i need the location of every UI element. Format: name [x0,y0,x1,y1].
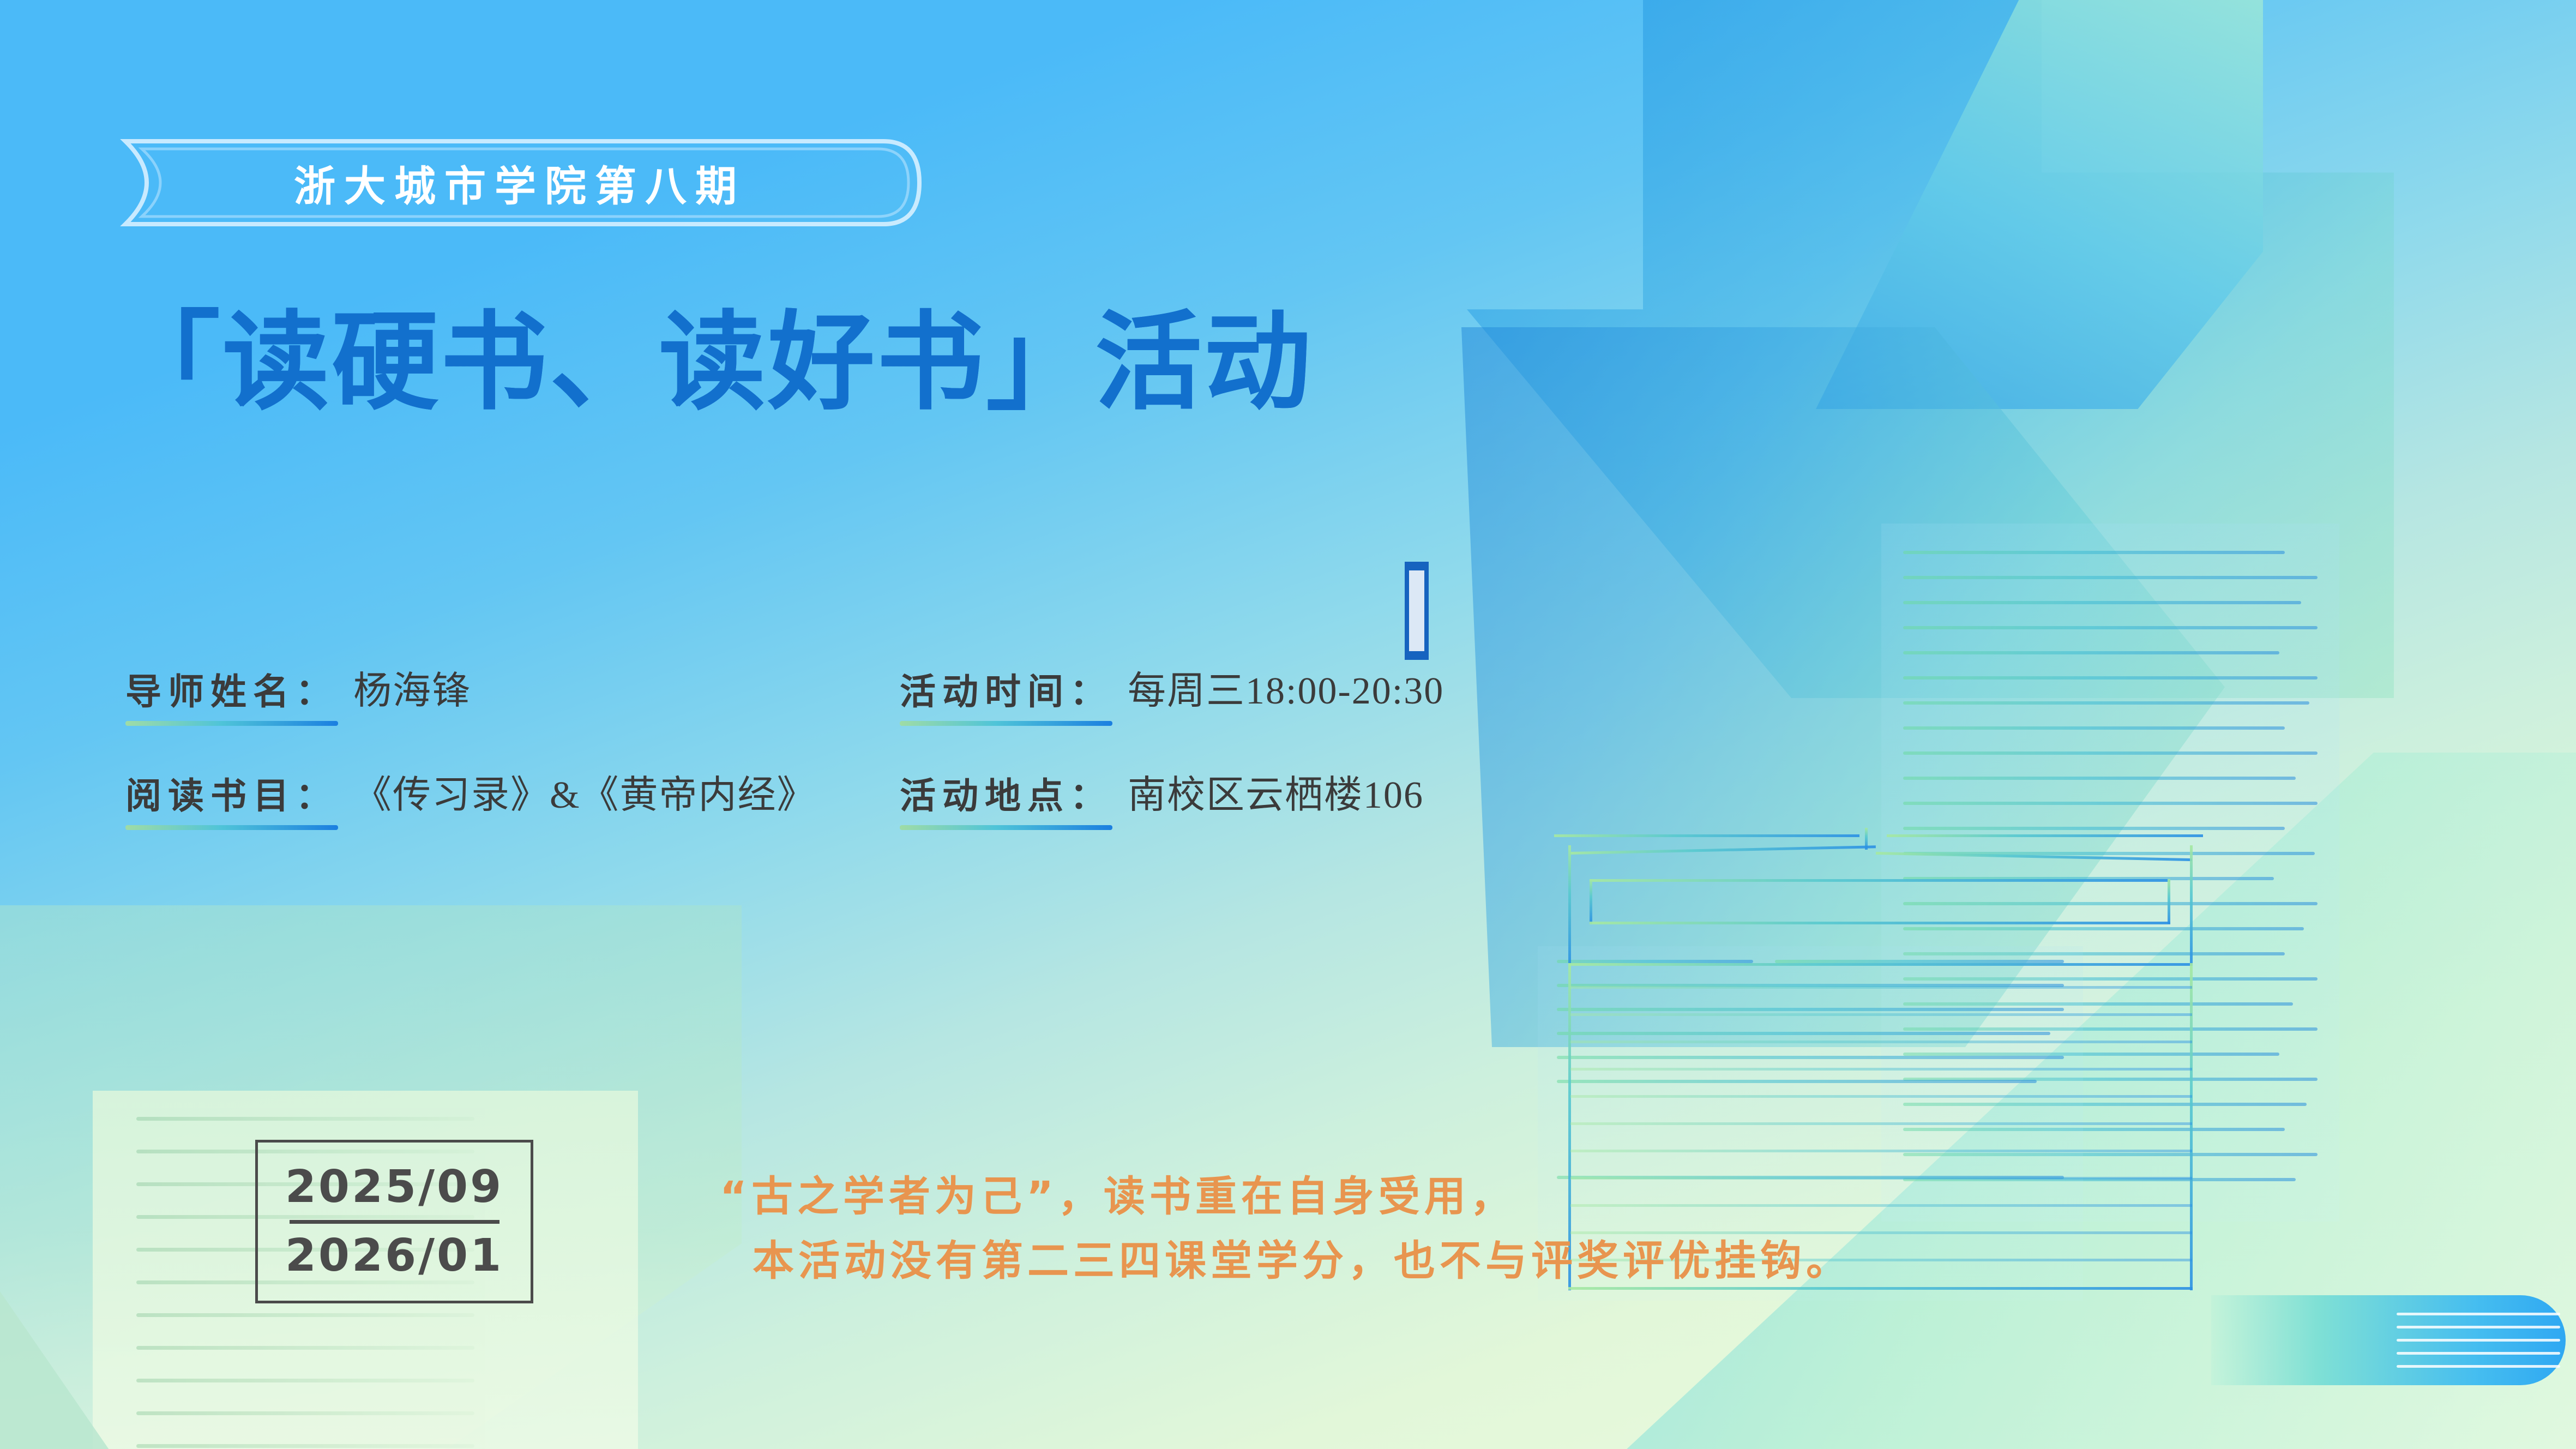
field-value: 《传习录》&《黄帝内经》 [353,764,816,830]
title-part-2: 读好 [659,300,877,425]
field-instructor-name: 导师姓名： 杨海锋 [125,660,900,726]
title-separator: 、 [550,300,659,425]
field-label-wrap: 导师姓名： [125,663,338,726]
date-start: 2025/09 [285,1161,503,1214]
field-reading-list: 阅读书目： 《传习录》&《黄帝内经》 [125,764,900,830]
field-value: 每周三18:00-20:30 [1128,660,1444,726]
series-banner-label: 浙大城市学院第八期 [109,139,922,226]
field-underline [125,825,338,830]
field-label: 活动时间： [900,663,1112,715]
disclaimer-line-1: “古之学者为己”，读书重在自身受用， [720,1172,1516,1220]
field-label-wrap: 活动时间： [900,663,1112,726]
field-label-wrap: 活动地点： [900,767,1112,830]
field-underline [900,721,1112,726]
field-value: 杨海锋 [353,660,471,726]
title-striped-char-1: 书 [441,300,550,425]
title-part-1: 读硬 [222,300,441,425]
field-underline [125,721,338,726]
field-label: 活动地点： [900,767,1112,819]
decor-blue-nub-inner [1409,570,1424,651]
field-underline [900,825,1112,830]
date-range-box: 2025/09 2026/01 [255,1140,533,1303]
date-divider [290,1220,499,1224]
title-bracket-close: 」 [986,300,1095,425]
page-title: 「读硬书、读好书」活动 [113,305,1313,421]
field-label: 阅读书目： [125,767,338,819]
field-value: 南校区云栖楼106 [1128,764,1424,830]
field-label: 导师姓名： [125,663,338,715]
info-grid: 导师姓名： 杨海锋 活动时间： 每周三18:00-20:30 阅读书目： 《传习… [125,660,1761,830]
field-activity-time: 活动时间： 每周三18:00-20:30 [900,660,1674,726]
poster-canvas: 浙大城市学院第八期 「读硬书、读好书」活动 导师姓名： 杨海锋 活动时间： 每周… [0,0,2576,1449]
title-striped-char-2: 书 [877,300,986,425]
field-activity-location: 活动地点： 南校区云栖楼106 [900,764,1674,830]
date-end: 2026/01 [285,1229,503,1283]
disclaimer-line-2: 本活动没有第二三四课堂学分，也不与评奖评优挂钩。 [753,1229,1852,1293]
disclaimer-note: “古之学者为己”，读书重在自身受用， 本活动没有第二三四课堂学分，也不与评奖评优… [720,1164,1852,1293]
title-bracket-open: 「 [113,300,222,425]
field-label-wrap: 阅读书目： [125,767,338,830]
decor-capsule-bookmark [2211,1295,2566,1385]
title-tail: 活动 [1095,300,1313,425]
series-banner: 浙大城市学院第八期 [109,139,922,226]
